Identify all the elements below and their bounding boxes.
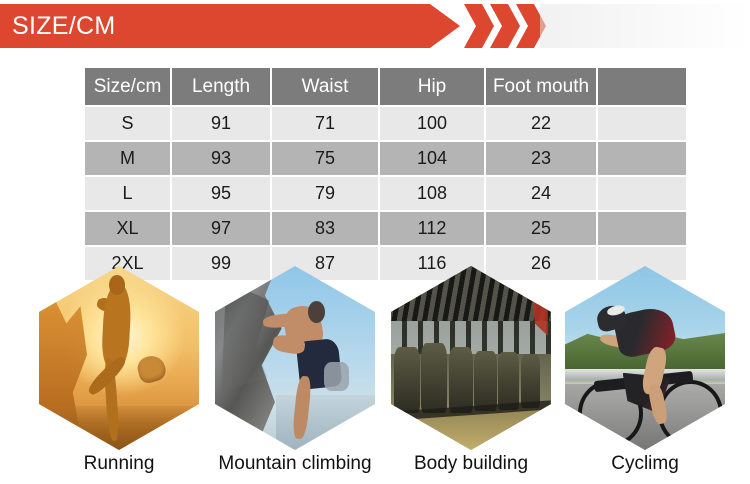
cell-waist: 83	[271, 211, 379, 246]
cell-foot-mouth: 22	[485, 106, 597, 141]
gallery-item-mountain-climbing: Mountain climbing	[212, 262, 378, 484]
header-gradient-fade	[540, 4, 750, 48]
gallery-label-body-building: Body building	[368, 453, 574, 475]
photo-climber-head	[308, 301, 326, 323]
hexagon-frame-running	[39, 266, 199, 450]
cell-size: XL	[85, 211, 171, 246]
gallery-item-running: Running	[36, 262, 202, 484]
activity-gallery: Running Mountain climbing	[0, 262, 750, 484]
column-header-foot-mouth: Foot mouth	[485, 68, 597, 106]
size-table-container: Size/cm Length Waist Hip Foot mouth S 91…	[85, 68, 686, 280]
chevron-right-icon	[464, 4, 494, 48]
cell-foot-mouth: 23	[485, 141, 597, 176]
page-title: SIZE/CM	[12, 12, 116, 40]
column-header-waist: Waist	[271, 68, 379, 106]
cell-foot-mouth: 25	[485, 211, 597, 246]
table-row: M 93 75 104 23	[85, 141, 686, 176]
photo-ground	[39, 406, 199, 450]
cell-size: L	[85, 176, 171, 211]
photo-bike-front-wheel	[658, 380, 724, 447]
photo-runner-shoe	[135, 353, 168, 385]
table-header-row: Size/cm Length Waist Hip Foot mouth	[85, 68, 686, 106]
table-row: XL 97 83 112 25	[85, 211, 686, 246]
hexagon-frame-mountain-climbing	[215, 266, 375, 450]
cell-empty	[597, 106, 686, 141]
photo-sea	[276, 395, 375, 450]
cell-hip: 104	[379, 141, 485, 176]
cell-length: 97	[171, 211, 271, 246]
header-banner: SIZE/CM	[0, 4, 750, 48]
cell-waist: 79	[271, 176, 379, 211]
cell-empty	[597, 176, 686, 211]
photo-machine	[421, 343, 447, 413]
cell-waist: 71	[271, 106, 379, 141]
woman-running-at-sunset-photo	[39, 266, 199, 450]
photo-machine	[498, 352, 519, 409]
cell-hip: 112	[379, 211, 485, 246]
size-chart-table: Size/cm Length Waist Hip Foot mouth S 91…	[85, 68, 686, 280]
column-header-hip: Hip	[379, 68, 485, 106]
table-row: L 95 79 108 24	[85, 176, 686, 211]
photo-climbing-gear	[324, 362, 350, 391]
cell-waist: 75	[271, 141, 379, 176]
photo-machine	[521, 354, 540, 407]
column-header-length: Length	[171, 68, 271, 106]
cyclist-on-road-bike-photo	[565, 266, 725, 450]
gallery-item-body-building: Body building	[388, 262, 554, 484]
cell-size: S	[85, 106, 171, 141]
cell-foot-mouth: 24	[485, 176, 597, 211]
photo-machine	[449, 347, 473, 413]
column-header-size: Size/cm	[85, 68, 171, 106]
chevron-right-icon	[490, 4, 520, 48]
gallery-label-cycling: Cyclimg	[562, 453, 728, 475]
gallery-label-running: Running	[36, 453, 202, 475]
column-header-empty	[597, 68, 686, 106]
photo-ceiling	[391, 266, 551, 321]
table-row: S 91 71 100 22	[85, 106, 686, 141]
hexagon-frame-body-building	[391, 266, 551, 450]
cell-hip: 100	[379, 106, 485, 141]
hexagon-frame-cycling	[565, 266, 725, 450]
gallery-item-cycling: Cyclimg	[562, 262, 728, 484]
cell-length: 95	[171, 176, 271, 211]
cell-length: 91	[171, 106, 271, 141]
cell-hip: 108	[379, 176, 485, 211]
cell-length: 93	[171, 141, 271, 176]
cell-empty	[597, 211, 686, 246]
gym-elliptical-machines-photo	[391, 266, 551, 450]
photo-runner-body	[101, 284, 133, 370]
photo-machine	[474, 351, 496, 412]
cell-size: M	[85, 141, 171, 176]
cell-empty	[597, 141, 686, 176]
photo-machine	[394, 347, 420, 413]
man-rock-climbing-photo	[215, 266, 375, 450]
